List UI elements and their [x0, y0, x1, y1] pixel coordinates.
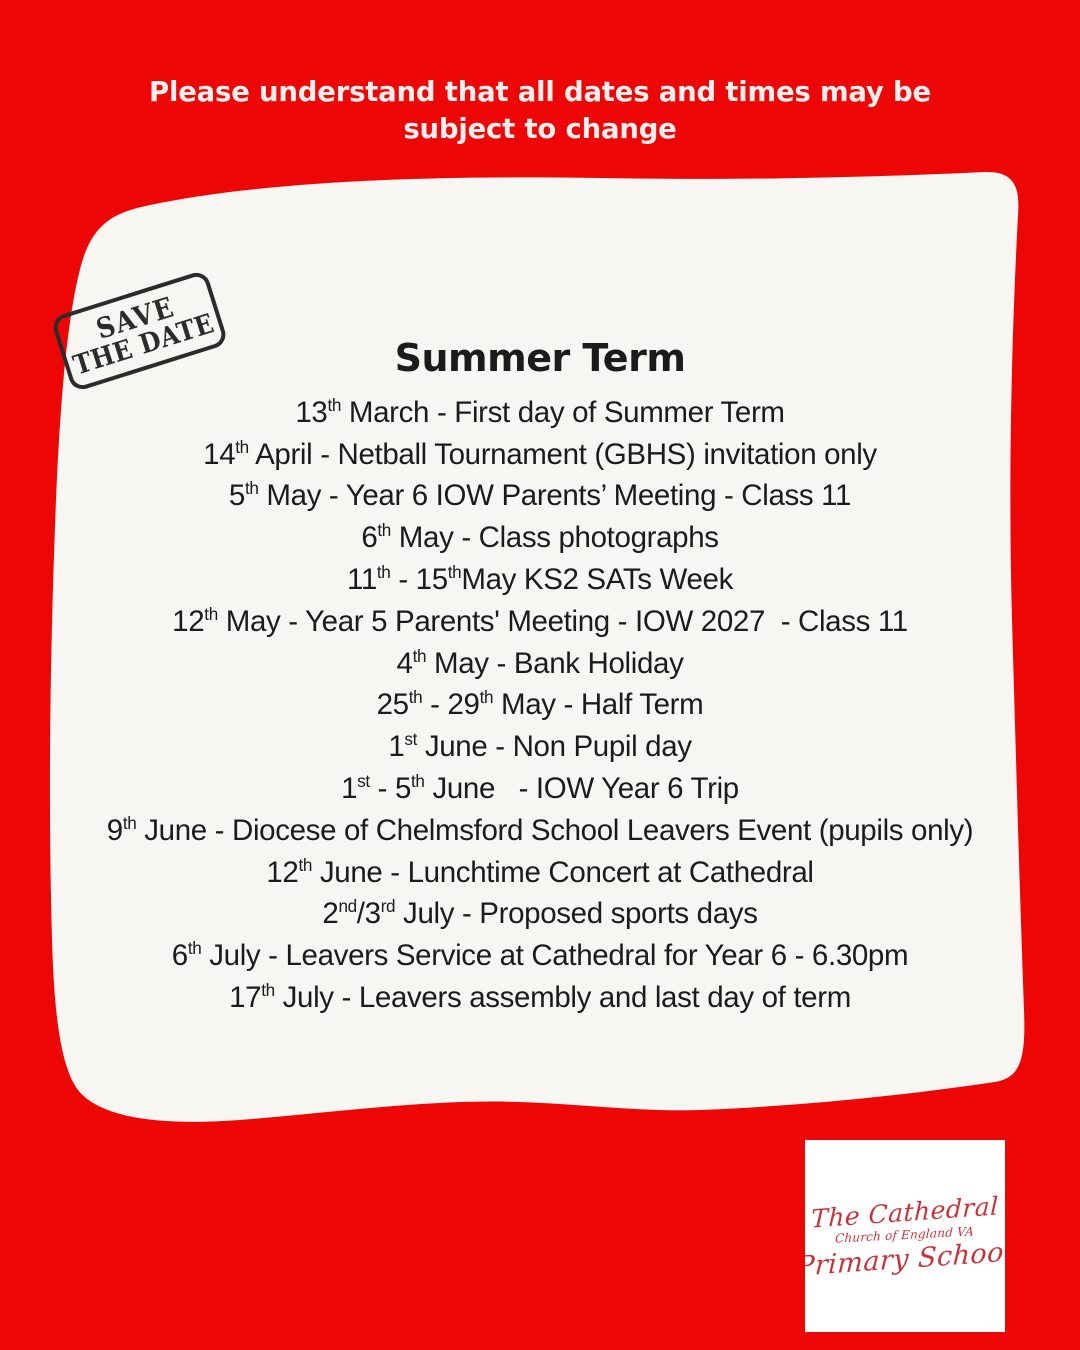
event-line: 4th May - Bank Holiday — [0, 643, 1080, 685]
event-line: 5th May - Year 6 IOW Parents’ Meeting - … — [0, 475, 1080, 517]
event-line: 6th July - Leavers Service at Cathedral … — [0, 935, 1080, 977]
page-title: Summer Term — [0, 338, 1080, 380]
event-line: 14th April - Netball Tournament (GBHS) i… — [0, 434, 1080, 476]
event-list: 13th March - First day of Summer Term14t… — [0, 392, 1080, 1019]
term-dates-panel: Summer Term 13th March - First day of Su… — [0, 338, 1080, 1019]
event-line: 11th - 15thMay KS2 SATs Week — [0, 559, 1080, 601]
subject-to-change-notice: Please understand that all dates and tim… — [110, 74, 970, 148]
school-logo: The Cathedral Church of England VA Prima… — [805, 1140, 1005, 1332]
event-line: 1st June - Non Pupil day — [0, 726, 1080, 768]
event-line: 17th July - Leavers assembly and last da… — [0, 977, 1080, 1019]
event-line: 1st - 5th June - IOW Year 6 Trip — [0, 768, 1080, 810]
header-banner: Please understand that all dates and tim… — [0, 0, 1080, 178]
event-line: 13th March - First day of Summer Term — [0, 392, 1080, 434]
event-line: 12th June - Lunchtime Concert at Cathedr… — [0, 852, 1080, 894]
event-line: 9th June - Diocese of Chelmsford School … — [0, 810, 1080, 852]
event-line: 6th May - Class photographs — [0, 517, 1080, 559]
event-line: 12th May - Year 5 Parents' Meeting - IOW… — [0, 601, 1080, 643]
event-line: 2nd/3rd July - Proposed sports days — [0, 893, 1080, 935]
event-line: 25th - 29th May - Half Term — [0, 684, 1080, 726]
